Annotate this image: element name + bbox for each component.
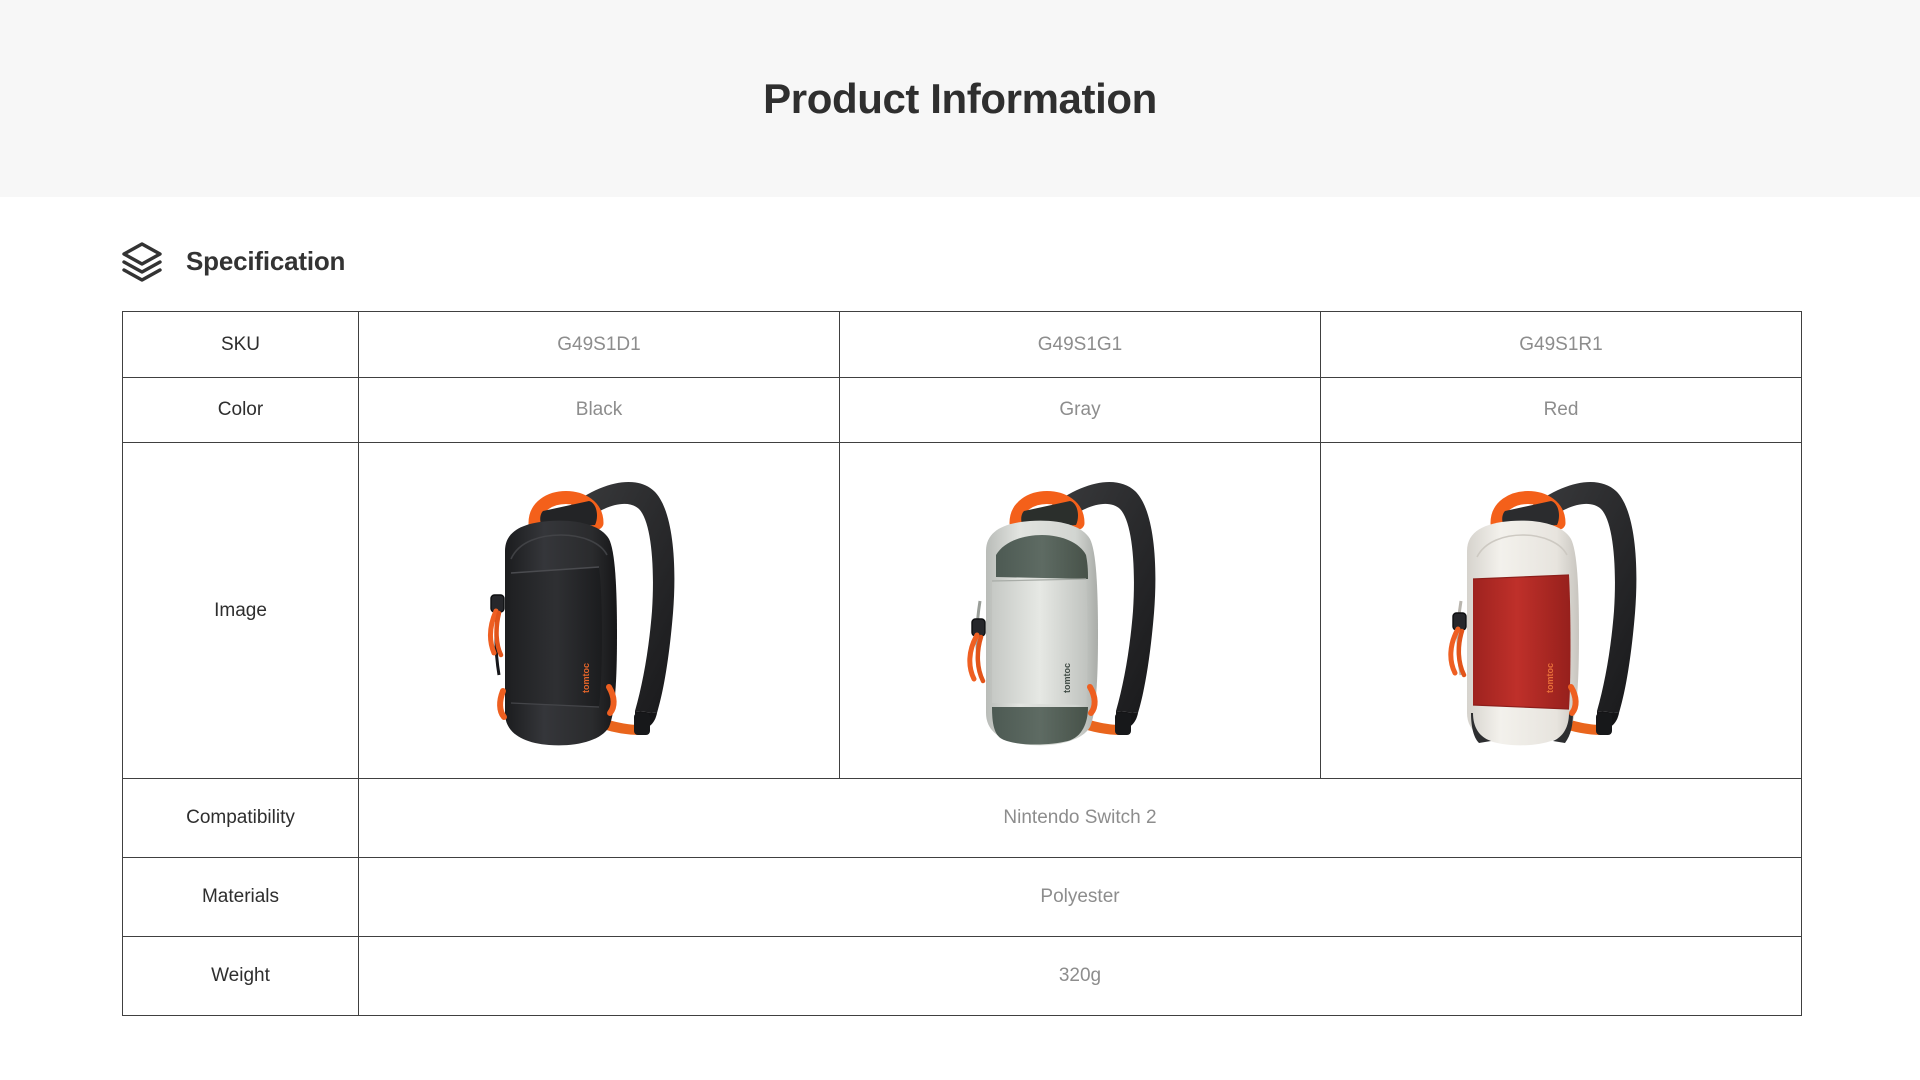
page-title: Product Information	[763, 75, 1157, 123]
cell-color-black: Black	[359, 378, 840, 443]
cell-image-black: tomtoc	[359, 443, 840, 779]
table-row-color: Color Black Gray Red	[123, 378, 1802, 443]
row-label-compatibility: Compatibility	[123, 779, 359, 858]
specification-table-wrapper: SKU G49S1D1 G49S1G1 G49S1R1 Color Black …	[122, 311, 1802, 1016]
black-bag-image: tomtoc	[449, 455, 749, 767]
svg-text:tomtoc: tomtoc	[581, 663, 591, 693]
table-row-materials: Materials Polyester	[123, 858, 1802, 937]
cell-materials-value: Polyester	[359, 858, 1802, 937]
cell-sku-red: G49S1R1	[1321, 312, 1802, 378]
cell-image-red: tomtoc	[1321, 443, 1802, 779]
row-label-materials: Materials	[123, 858, 359, 937]
table-row-sku: SKU G49S1D1 G49S1G1 G49S1R1	[123, 312, 1802, 378]
specification-section-header: Specification	[120, 239, 1920, 283]
cell-sku-gray: G49S1G1	[840, 312, 1321, 378]
table-row-compatibility: Compatibility Nintendo Switch 2	[123, 779, 1802, 858]
cell-compatibility-value: Nintendo Switch 2	[359, 779, 1802, 858]
cell-weight-value: 320g	[359, 937, 1802, 1016]
section-title: Specification	[186, 246, 345, 277]
cell-color-red: Red	[1321, 378, 1802, 443]
page-header: Product Information	[0, 0, 1920, 197]
cell-color-gray: Gray	[840, 378, 1321, 443]
red-bag-image: tomtoc	[1411, 455, 1711, 767]
svg-text:tomtoc: tomtoc	[1545, 663, 1555, 693]
table-row-image: Image	[123, 443, 1802, 779]
row-label-weight: Weight	[123, 937, 359, 1016]
row-label-sku: SKU	[123, 312, 359, 378]
row-label-color: Color	[123, 378, 359, 443]
row-label-image: Image	[123, 443, 359, 779]
cell-sku-black: G49S1D1	[359, 312, 840, 378]
gray-bag-image: tomtoc	[930, 455, 1230, 767]
svg-text:tomtoc: tomtoc	[1062, 663, 1072, 693]
specification-table: SKU G49S1D1 G49S1G1 G49S1R1 Color Black …	[122, 311, 1802, 1016]
table-row-weight: Weight 320g	[123, 937, 1802, 1016]
cell-image-gray: tomtoc	[840, 443, 1321, 779]
layers-icon	[120, 239, 164, 283]
